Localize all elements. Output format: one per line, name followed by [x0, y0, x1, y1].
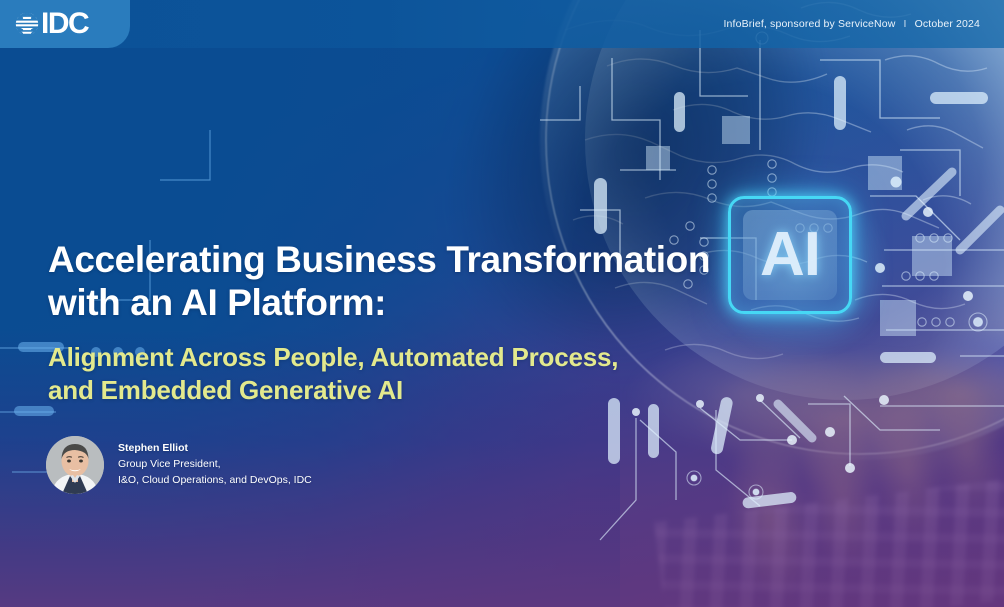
subtitle-line-1: Alignment Across People, Automated Proce… — [48, 341, 748, 375]
ai-chip-label: AI — [760, 224, 820, 286]
sponsor-label: InfoBrief, sponsored by ServiceNow — [723, 18, 895, 30]
page-title: Accelerating Business Transformation wit… — [48, 238, 748, 325]
globe-icon — [14, 11, 40, 37]
author-title-line-1: Group Vice President, — [118, 457, 312, 473]
avatar — [46, 436, 104, 494]
title-block: Accelerating Business Transformation wit… — [48, 238, 748, 408]
idc-logo-text: IDC — [41, 9, 88, 39]
ai-chip-inner: AI — [743, 210, 837, 300]
cover-page: AI — [0, 0, 1004, 607]
author-text: Stephen Elliot Group Vice President, I&O… — [118, 441, 312, 489]
subtitle-line-2: and Embedded Generative AI — [48, 374, 748, 408]
author-block: Stephen Elliot Group Vice President, I&O… — [46, 436, 312, 494]
idc-logo[interactable]: IDC — [0, 0, 130, 48]
title-line-2: with an AI Platform: — [48, 281, 748, 324]
author-title-line-2: I&O, Cloud Operations, and DevOps, IDC — [118, 473, 312, 489]
header-meta: InfoBrief, sponsored by ServiceNow I Oct… — [723, 0, 980, 48]
title-line-1: Accelerating Business Transformation — [48, 238, 748, 281]
page-subtitle: Alignment Across People, Automated Proce… — [48, 341, 748, 409]
author-name: Stephen Elliot — [118, 441, 312, 457]
publication-date: October 2024 — [915, 18, 980, 30]
header-separator: I — [903, 18, 906, 30]
